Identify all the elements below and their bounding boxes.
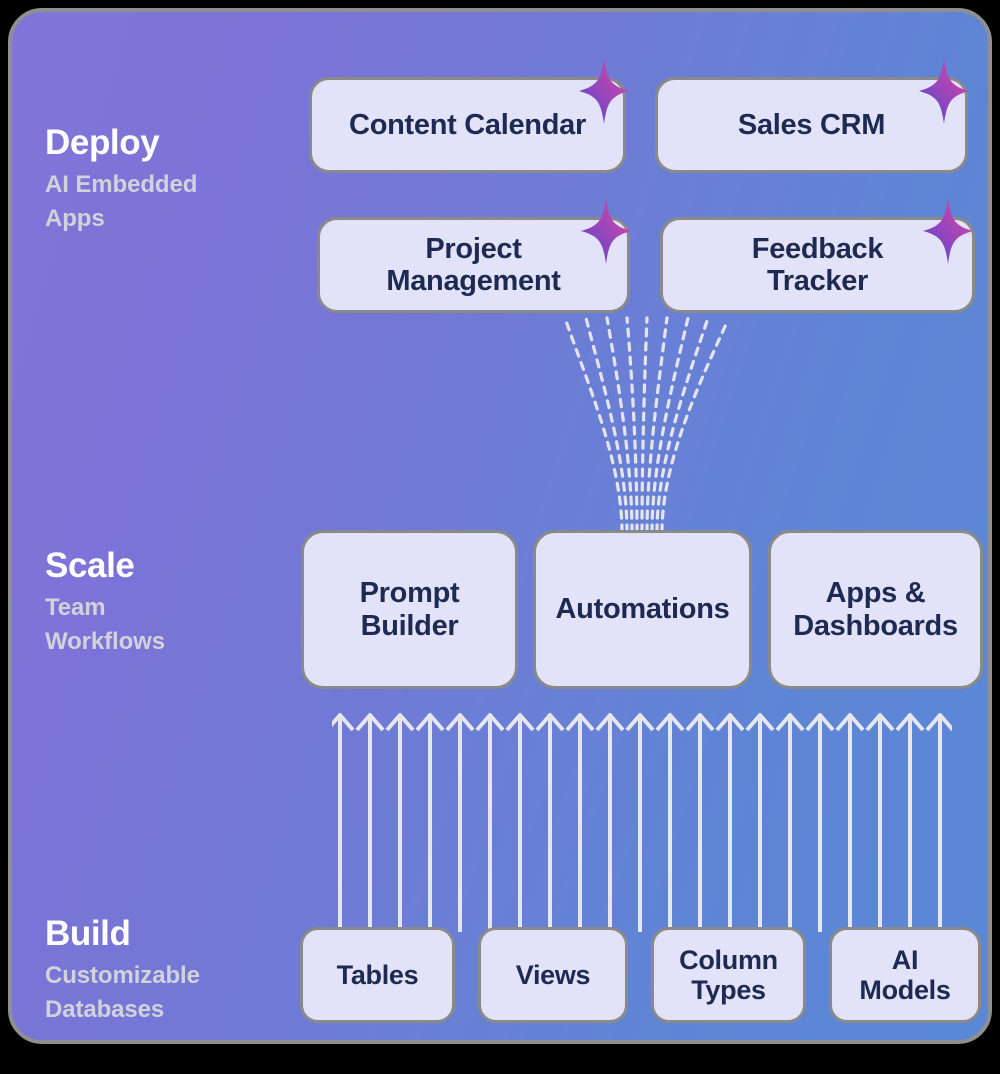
card-sales-crm-label: Sales CRM [738,109,885,141]
screenshot-root: Deploy AI Embedded Apps Scale Team Workf… [0,0,1000,1074]
card-column-types-line1: Column [679,945,778,975]
row-subtitle-scale-line2: Workflows [45,625,295,659]
card-apps-dashboards-line2: Dashboards [793,610,958,642]
row-label-scale: Scale Team Workflows [45,547,295,659]
card-prompt-builder[interactable]: Prompt Builder [301,530,518,689]
row-subtitle-build-line2: Databases [45,993,295,1027]
card-feedback-tracker[interactable]: Feedback Tracker [660,217,975,313]
row-subtitle-deploy-line1: AI Embedded [45,168,295,202]
row-subtitle-deploy-line2: Apps [45,202,295,236]
card-sales-crm[interactable]: Sales CRM [655,77,968,173]
card-ai-models-line1: AI [892,945,918,975]
fan-connector-dashed-lines [527,312,747,532]
card-project-management-line1: Project [425,233,521,265]
card-ai-models-line2: Models [859,975,950,1005]
card-views-label: Views [516,960,591,990]
card-prompt-builder-line2: Builder [361,610,459,642]
row-label-deploy: Deploy AI Embedded Apps [45,124,295,236]
card-apps-dashboards[interactable]: Apps & Dashboards [768,530,983,689]
row-subtitle-scale-line1: Team [45,591,295,625]
card-feedback-tracker-line1: Feedback [752,233,883,265]
row-title-scale: Scale [45,547,295,585]
card-apps-dashboards-label: Apps & Dashboards [793,577,958,642]
card-project-management-line2: Management [386,265,560,297]
card-project-management[interactable]: Project Management [317,217,630,313]
row-title-build: Build [45,915,295,953]
card-prompt-builder-line1: Prompt [360,577,460,609]
card-tables[interactable]: Tables [300,927,455,1023]
card-ai-models-label: AI Models [859,945,950,1005]
diagram-panel: Deploy AI Embedded Apps Scale Team Workf… [8,8,992,1044]
card-content-calendar[interactable]: Content Calendar [309,77,626,173]
card-feedback-tracker-label: Feedback Tracker [752,233,883,298]
card-automations-label: Automations [556,593,730,625]
card-ai-models[interactable]: AI Models [829,927,981,1023]
card-automations[interactable]: Automations [533,530,752,689]
row-subtitle-build: Customizable Databases [45,959,295,1027]
row-title-deploy: Deploy [45,124,295,162]
card-column-types-label: Column Types [679,945,778,1005]
card-tables-label: Tables [337,960,419,990]
row-subtitle-scale: Team Workflows [45,591,295,659]
row-subtitle-deploy: AI Embedded Apps [45,168,295,236]
card-feedback-tracker-line2: Tracker [767,265,868,297]
card-content-calendar-label: Content Calendar [349,109,586,141]
card-prompt-builder-label: Prompt Builder [360,577,460,642]
row-label-build: Build Customizable Databases [45,915,295,1027]
row-subtitle-build-line1: Customizable [45,959,295,993]
card-views[interactable]: Views [478,927,628,1023]
card-apps-dashboards-line1: Apps & [826,577,926,609]
card-column-types-line2: Types [691,975,766,1005]
card-column-types[interactable]: Column Types [651,927,806,1023]
upward-arrows-connector [332,702,952,932]
card-project-management-label: Project Management [386,233,560,298]
